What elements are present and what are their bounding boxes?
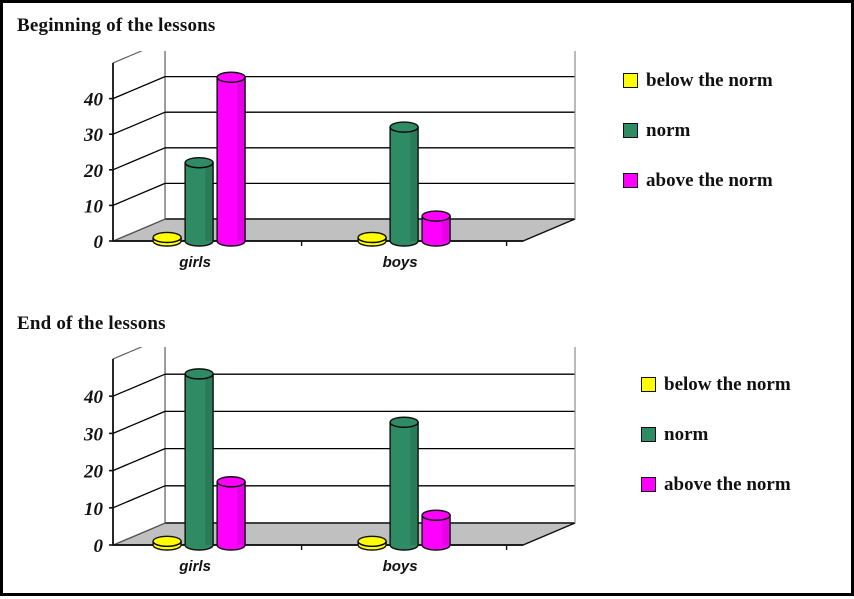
chart-end: 010203040girlsboys: [3, 347, 603, 592]
chart-panel-beginning: Beginning of the lessons 010203040girlsb…: [3, 3, 854, 303]
legend-item-below-the-norm[interactable]: below the norm: [623, 71, 773, 90]
bar-cylinder: [185, 369, 213, 550]
bar-cylinder: [422, 510, 450, 550]
bar-cylinder: [153, 536, 181, 550]
y-axis-tick-label: 30: [83, 125, 104, 146]
legend-beginning: below the norm norm above the norm: [615, 59, 854, 219]
y-axis-tick-label: 40: [83, 387, 104, 408]
y-axis-tick-label: 30: [83, 424, 104, 445]
y-axis-tick-label: 40: [83, 90, 104, 111]
y-axis-tick-label: 0: [94, 536, 104, 557]
page-title-beginning: Beginning of the lessons: [17, 15, 216, 37]
legend-item-below-the-norm[interactable]: below the norm: [641, 375, 791, 394]
legend-label-below: below the norm: [664, 375, 791, 394]
legend-item-norm[interactable]: norm: [641, 425, 708, 444]
figure-frame: Beginning of the lessons 010203040girlsb…: [0, 0, 854, 596]
y-axis-tick-label: 20: [83, 161, 104, 182]
bar-cylinder: [390, 122, 418, 246]
legend-swatch-above-icon: [641, 477, 656, 492]
bar-cylinder: [358, 232, 386, 246]
legend-label-norm: norm: [646, 121, 690, 140]
legend-item-above-the-norm[interactable]: above the norm: [623, 171, 773, 190]
chart-plot-area-end: 010203040girlsboys: [3, 347, 603, 592]
bar-cylinder: [422, 211, 450, 246]
chart-beginning: 010203040girlsboys: [3, 51, 603, 291]
bar-cylinder: [217, 477, 245, 550]
legend-label-norm: norm: [664, 425, 708, 444]
legend-label-above: above the norm: [646, 171, 773, 190]
bar-cylinder: [358, 536, 386, 550]
legend-end: below the norm norm above the norm: [633, 363, 854, 523]
legend-swatch-norm-icon: [623, 123, 638, 138]
x-axis-category-label: boys: [383, 558, 418, 575]
legend-swatch-below-icon: [641, 377, 656, 392]
page-title-end: End of the lessons: [17, 313, 166, 335]
legend-item-above-the-norm[interactable]: above the norm: [641, 475, 791, 494]
y-axis-tick-label: 10: [84, 196, 104, 217]
chart-plot-area-beginning: 010203040girlsboys: [3, 51, 603, 291]
legend-item-norm[interactable]: norm: [623, 121, 690, 140]
x-axis-category-label: girls: [178, 254, 211, 271]
x-axis-category-label: girls: [178, 558, 211, 575]
legend-swatch-norm-icon: [641, 427, 656, 442]
x-axis-category-label: boys: [383, 254, 418, 271]
y-axis-tick-label: 20: [83, 462, 104, 483]
bar-cylinder: [390, 417, 418, 550]
bar-cylinder: [217, 72, 245, 246]
legend-swatch-below-icon: [623, 73, 638, 88]
legend-label-below: below the norm: [646, 71, 773, 90]
legend-label-above: above the norm: [664, 475, 791, 494]
bar-cylinder: [153, 232, 181, 246]
legend-swatch-above-icon: [623, 173, 638, 188]
y-axis-tick-label: 0: [94, 232, 104, 253]
chart-panel-end: End of the lessons 010203040girlsboys be…: [3, 303, 854, 599]
bar-cylinder: [185, 158, 213, 246]
y-axis-tick-label: 10: [84, 499, 104, 520]
